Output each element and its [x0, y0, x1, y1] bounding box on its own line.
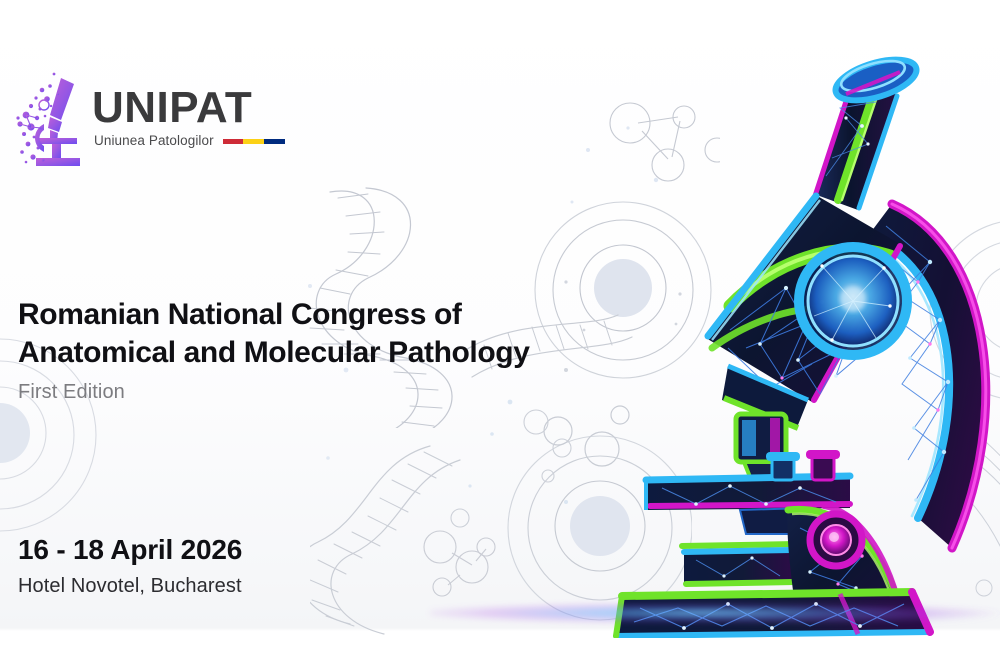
microscope-base: [616, 592, 930, 636]
page-title: Romanian National Congress of Anatomical…: [18, 296, 578, 404]
logo-text-block: UNIPAT Uniunea Patologilor: [92, 86, 285, 148]
event-details: 16 - 18 April 2026 Hotel Novotel, Buchar…: [18, 533, 242, 598]
microscope-eyepiece: [814, 51, 921, 210]
molecule-bond-circles-icon: [420, 515, 540, 615]
brand-logo[interactable]: UNIPAT Uniunea Patologilor: [14, 72, 254, 168]
microscope-particle-icon: [14, 72, 92, 168]
event-venue: Hotel Novotel, Bucharest: [18, 575, 242, 598]
microscope-condenser: [682, 544, 796, 584]
title-line-2: Anatomical and Molecular Pathology: [18, 334, 578, 372]
microscope-focus-lens: [799, 247, 907, 355]
brand-wordmark: UNIPAT: [92, 86, 285, 130]
title-line-1: Romanian National Congress of: [18, 296, 578, 334]
title-subtitle: First Edition: [18, 381, 578, 404]
congress-banner: UNIPAT Uniunea Patologilor Romanian Nati…: [0, 0, 1000, 654]
event-dates: 16 - 18 April 2026: [18, 533, 242, 567]
dna-double-helix-icon: [310, 438, 510, 648]
romanian-flag-icon: [223, 139, 285, 144]
bubble-dots-icon: [440, 390, 580, 550]
neon-wireframe-microscope-illustration: [600, 48, 1000, 638]
brand-tagline: Uniunea Patologilor: [94, 133, 214, 148]
